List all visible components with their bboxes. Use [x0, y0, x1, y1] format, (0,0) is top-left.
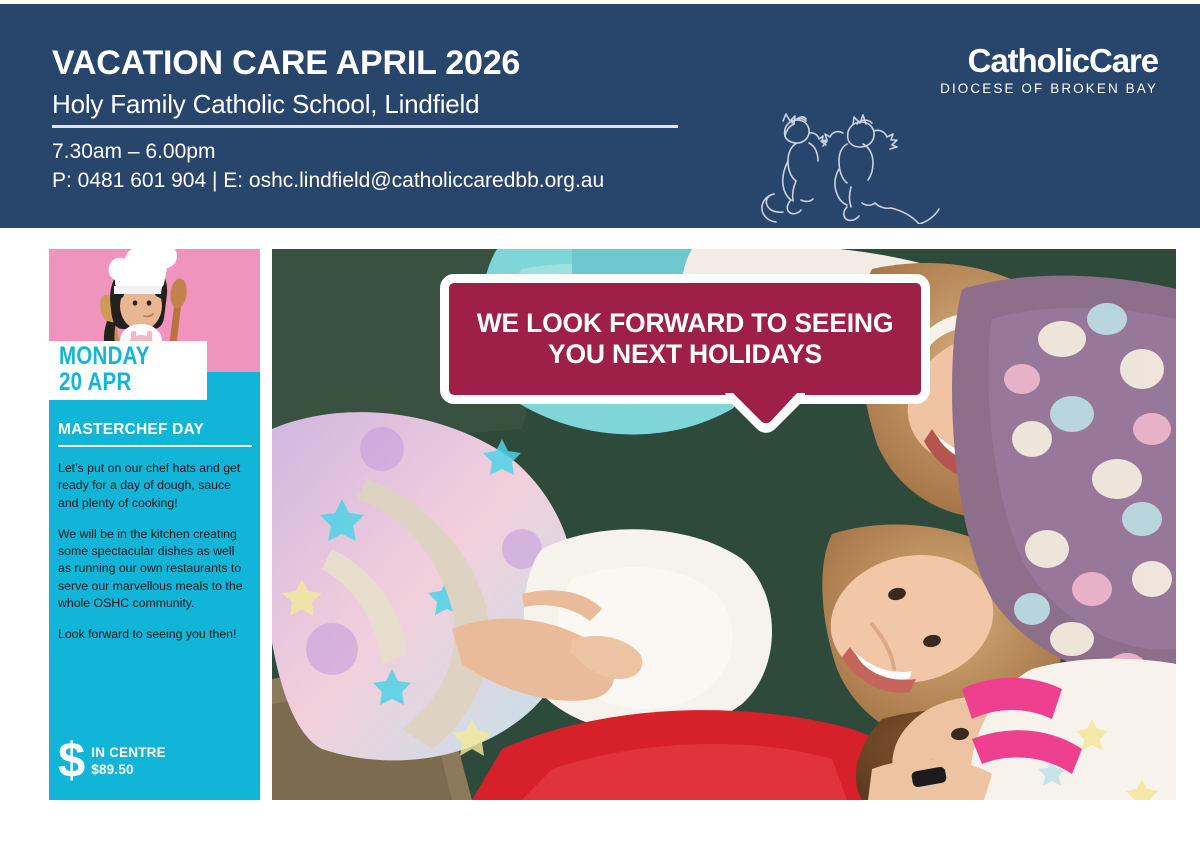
price-badge: $ IN CENTRE $89.50	[58, 736, 248, 786]
logo-wordmark: CatholicCare	[940, 44, 1158, 77]
date-number: 20 APR	[59, 369, 182, 395]
callout-bubble-tail	[725, 393, 805, 433]
callout-bubble: WE LOOK FORWARD TO SEEING YOU NEXT HOLID…	[440, 274, 930, 429]
callout-text: WE LOOK FORWARD TO SEEING YOU NEXT HOLID…	[477, 308, 894, 370]
price-label: IN CENTRE	[91, 744, 166, 761]
page-title: VACATION CARE APRIL 2026	[52, 44, 520, 83]
callout-bubble-body: WE LOOK FORWARD TO SEEING YOU NEXT HOLID…	[440, 274, 930, 404]
flyer-page: VACATION CARE APRIL 2026 Holy Family Cat…	[0, 0, 1200, 849]
date-badge: MONDAY 20 APR	[59, 343, 182, 395]
logo-tagline: DIOCESE OF BROKEN BAY	[940, 82, 1158, 96]
header-banner: VACATION CARE APRIL 2026 Holy Family Cat…	[0, 4, 1200, 228]
two-children-line-art-icon	[735, 99, 955, 224]
callout-line-2: YOU NEXT HOLIDAYS	[477, 339, 894, 370]
school-name: Holy Family Catholic School, Lindfield	[52, 89, 479, 120]
header-divider	[52, 125, 678, 128]
opening-hours: 7.30am – 6.00pm	[52, 140, 215, 164]
activity-paragraph: We will be in the kitchen creating some …	[58, 526, 248, 612]
activity-paragraph: Let’s put on our chef hats and get ready…	[58, 460, 248, 512]
activity-title: MASTERCHEF DAY	[58, 421, 204, 439]
callout-line-1: WE LOOK FORWARD TO SEEING	[477, 308, 894, 339]
activity-paragraph: Look forward to seeing you then!	[58, 626, 248, 643]
date-day: MONDAY	[59, 343, 182, 369]
catholiccare-logo: CatholicCare DIOCESE OF BROKEN BAY	[940, 44, 1158, 96]
activity-title-divider	[58, 445, 252, 447]
day-info-card: MONDAY 20 APR MASTERCHEF DAY Let’s put o…	[49, 249, 260, 800]
price-amount: $89.50	[91, 761, 166, 778]
activity-description: Let’s put on our chef hats and get ready…	[58, 460, 248, 658]
dollar-sign-icon: $	[58, 741, 84, 781]
contact-details: P: 0481 601 904 | E: oshc.lindfield@cath…	[52, 169, 604, 193]
